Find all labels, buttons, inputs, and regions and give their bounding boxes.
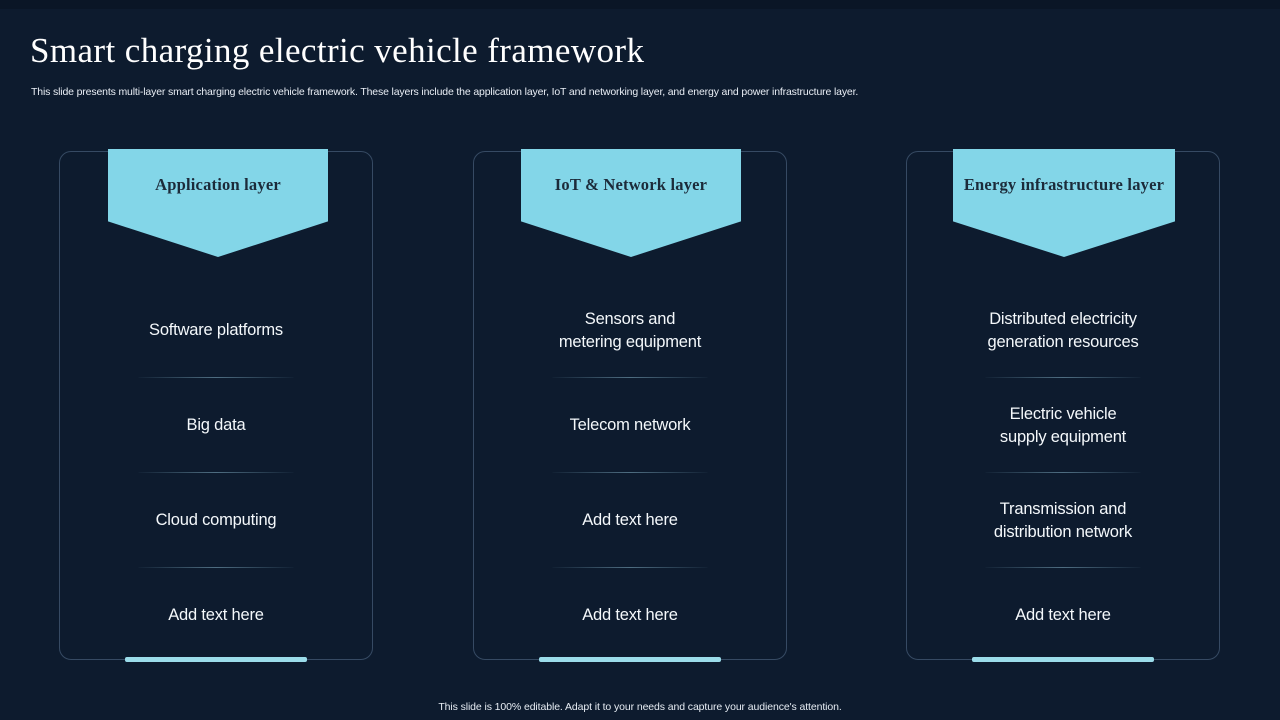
- list-item[interactable]: Add text here: [474, 473, 786, 568]
- list-item-label: Telecom network: [510, 414, 750, 437]
- framework-card-energy-infrastructure-layer[interactable]: Energy infrastructure layer Distributed …: [906, 151, 1220, 660]
- card-header-banner-2: IoT & Network layer: [521, 149, 741, 257]
- list-item-label: Cloud computing: [96, 509, 336, 532]
- list-item[interactable]: Electric vehicle supply equipment: [907, 378, 1219, 473]
- framework-card-iot-network-layer[interactable]: IoT & Network layer Sensors and metering…: [473, 151, 787, 660]
- list-item-label: Add text here: [510, 604, 750, 627]
- card-accent-bar-1: [125, 657, 307, 662]
- list-item[interactable]: Transmission and distribution network: [907, 473, 1219, 568]
- framework-card-application-layer[interactable]: Application layer Software platforms Big…: [59, 151, 373, 660]
- list-item[interactable]: Distributed electricity generation resou…: [907, 283, 1219, 378]
- card-item-list-1: Software platforms Big data Cloud comput…: [60, 283, 372, 663]
- top-accent-strip: [0, 0, 1280, 9]
- list-item[interactable]: Big data: [60, 378, 372, 473]
- framework-columns: Application layer Software platforms Big…: [0, 151, 1280, 663]
- card-item-list-2: Sensors and metering equipment Telecom n…: [474, 283, 786, 663]
- list-item[interactable]: Software platforms: [60, 283, 372, 378]
- list-item-label: Distributed electricity generation resou…: [943, 308, 1183, 354]
- page-title: Smart charging electric vehicle framewor…: [30, 30, 1030, 72]
- list-item[interactable]: Add text here: [60, 568, 372, 663]
- list-item-label: Sensors and metering equipment: [510, 308, 750, 354]
- list-item-label: Electric vehicle supply equipment: [943, 403, 1183, 449]
- list-item-label: Software platforms: [96, 319, 336, 342]
- list-item[interactable]: Add text here: [474, 568, 786, 663]
- slide-canvas: Smart charging electric vehicle framewor…: [0, 0, 1280, 720]
- footer-note: This slide is 100% editable. Adapt it to…: [0, 700, 1280, 714]
- card-header-banner-1: Application layer: [108, 149, 328, 257]
- card-accent-bar-3: [972, 657, 1154, 662]
- card-item-list-3: Distributed electricity generation resou…: [907, 283, 1219, 663]
- list-item-label: Add text here: [943, 604, 1183, 627]
- card-header-banner-3: Energy infrastructure layer: [953, 149, 1175, 257]
- list-item-label: Add text here: [96, 604, 336, 627]
- list-item[interactable]: Cloud computing: [60, 473, 372, 568]
- list-item-label: Transmission and distribution network: [943, 498, 1183, 544]
- list-item[interactable]: Telecom network: [474, 378, 786, 473]
- list-item[interactable]: Add text here: [907, 568, 1219, 663]
- list-item-label: Big data: [96, 414, 336, 437]
- list-item-label: Add text here: [510, 509, 750, 532]
- page-subtitle: This slide presents multi-layer smart ch…: [31, 85, 1131, 99]
- card-accent-bar-2: [539, 657, 721, 662]
- list-item[interactable]: Sensors and metering equipment: [474, 283, 786, 378]
